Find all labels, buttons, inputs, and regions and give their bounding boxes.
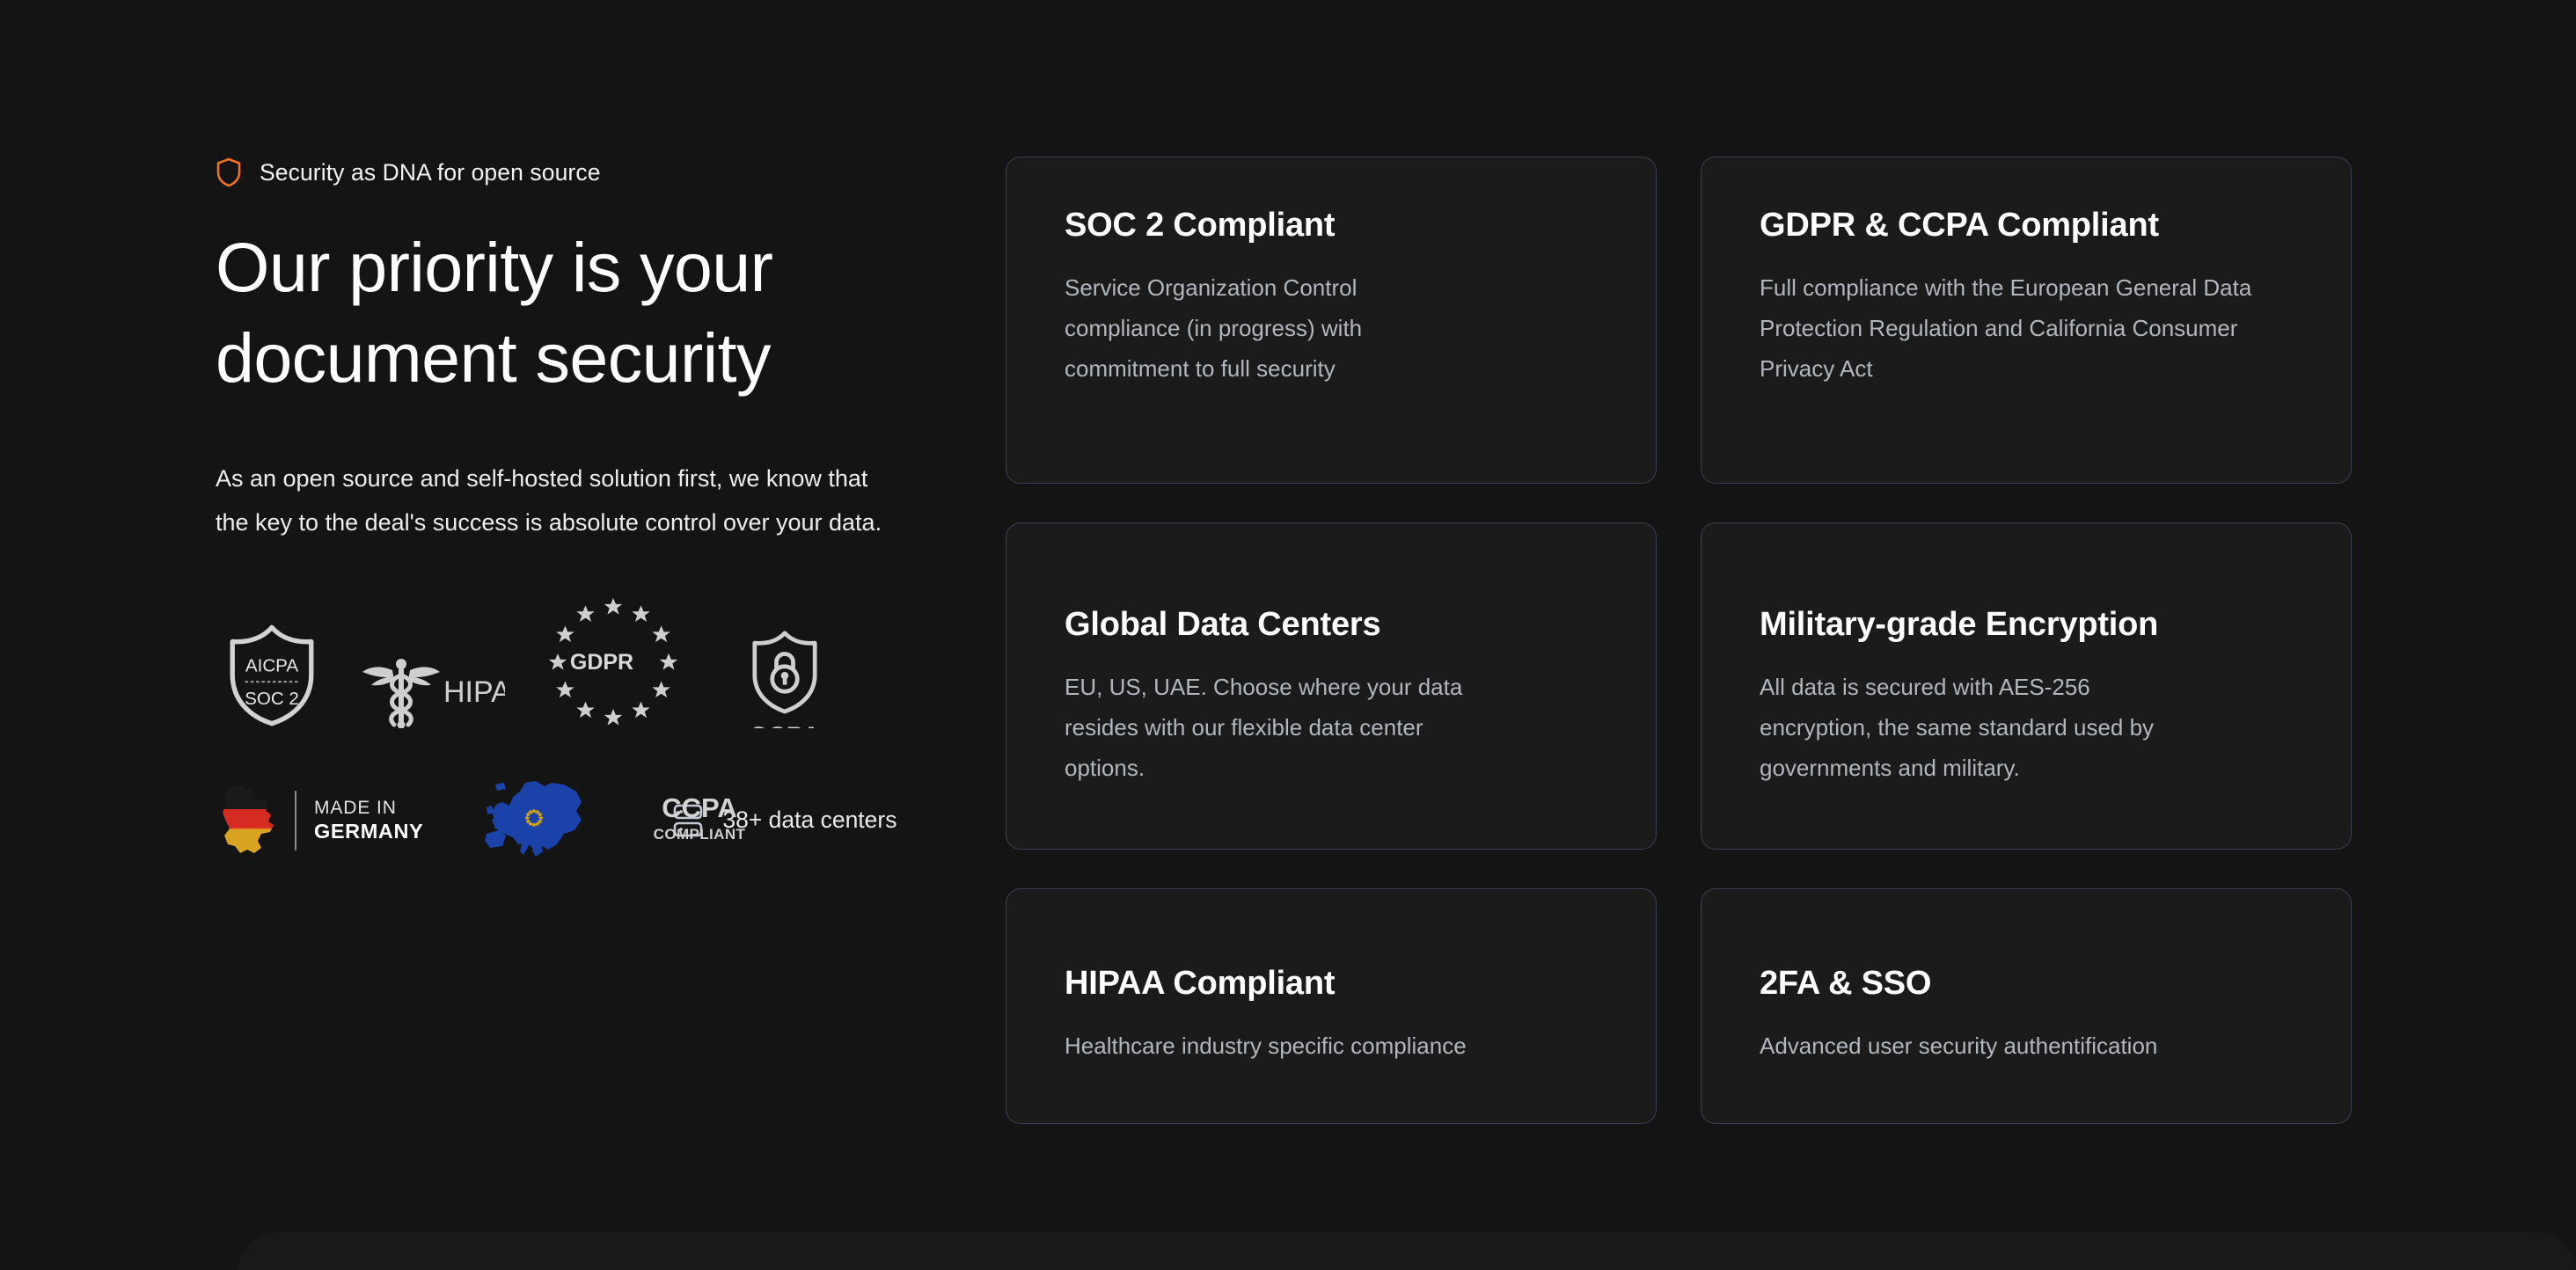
compliance-badges: AICPA SOC 2 — [216, 605, 937, 728]
divider — [295, 791, 296, 850]
ccpa-sublabel: COMPLIANT — [629, 826, 770, 843]
shield-icon — [216, 157, 242, 187]
shield-badge-icon: AICPA SOC 2 — [224, 623, 319, 728]
hero-column: Security as DNA for open source Our prio… — [216, 155, 937, 862]
card-title: GDPR & CCPA Compliant — [1760, 207, 2293, 245]
eyebrow: Security as DNA for open source — [216, 155, 937, 190]
page-title: Our priority is your document security — [216, 222, 849, 404]
card-soc-2-compliant[interactable]: SOC 2 Compliant Service Organization Con… — [1006, 157, 1657, 484]
germany-label: GERMANY — [314, 820, 423, 843]
card-gdpr-ccpa-compliant[interactable]: GDPR & CCPA Compliant Full compliance wi… — [1701, 157, 2352, 484]
eu-stars-icon: GDPR — [547, 596, 679, 728]
card-description: Full compliance with the European Genera… — [1760, 268, 2287, 389]
card-hipaa-compliant[interactable]: HIPAA Compliant Healthcare industry spec… — [1006, 888, 1657, 1124]
card-description: Advanced user security authentification — [1760, 1026, 2293, 1067]
svg-text:SOC 2: SOC 2 — [245, 689, 299, 709]
card-title: SOC 2 Compliant — [1065, 207, 1598, 245]
made-in-label: MADE IN — [314, 798, 423, 819]
badge-ccpa: CCPA — [728, 628, 842, 728]
badge-gdpr: GDPR — [543, 596, 684, 728]
badge-hipaa: HIPAA — [356, 653, 506, 728]
trust-badges-row: MADE IN GERMANY — [216, 779, 937, 862]
security-section: Security as DNA for open source Our prio… — [0, 0, 2576, 1270]
feature-card-grid: SOC 2 Compliant Service Organization Con… — [1006, 157, 2453, 1124]
svg-text:CCPA: CCPA — [749, 722, 820, 728]
badge-europe-map — [483, 779, 589, 862]
eyebrow-label: Security as DNA for open source — [260, 159, 601, 186]
svg-text:AICPA: AICPA — [245, 655, 299, 675]
card-2fa-sso[interactable]: 2FA & SSO Advanced user security authent… — [1701, 888, 2352, 1124]
card-title: HIPAA Compliant — [1065, 965, 1598, 1003]
badge-made-in-germany: MADE IN GERMANY — [216, 783, 423, 858]
hero-subcopy: As an open source and self-hosted soluti… — [216, 456, 884, 545]
hipaa-label: HIPAA — [443, 675, 505, 709]
bottom-panel-edge — [238, 1231, 2576, 1270]
germany-map-icon — [216, 783, 281, 858]
card-description: EU, US, UAE. Choose where your data resi… — [1065, 668, 1469, 788]
gdpr-label: GDPR — [570, 650, 633, 675]
card-military-grade-encryption[interactable]: Military-grade Encryption All data is se… — [1701, 522, 2352, 850]
shield-lock-icon: CCPA — [733, 628, 837, 728]
ccpa-text-block: CCPA COMPLIANT — [629, 793, 770, 843]
card-description: Healthcare industry specific compliance — [1065, 1026, 1598, 1067]
ccpa-label: CCPA — [629, 793, 770, 824]
card-global-data-centers[interactable]: Global Data Centers EU, US, UAE. Choose … — [1006, 522, 1657, 850]
caduceus-icon: HIPAA — [357, 653, 505, 728]
card-title: Military-grade Encryption — [1760, 606, 2293, 644]
card-description: Service Organization Control compliance … — [1065, 268, 1469, 389]
badge-aicpa-soc2: AICPA SOC 2 — [219, 623, 325, 728]
made-in-germany-text: MADE IN GERMANY — [314, 798, 423, 843]
europe-map-icon — [483, 779, 589, 862]
card-description: All data is secured with AES-256 encrypt… — [1760, 668, 2164, 788]
card-title: Global Data Centers — [1065, 606, 1598, 644]
card-title: 2FA & SSO — [1760, 965, 2293, 1003]
